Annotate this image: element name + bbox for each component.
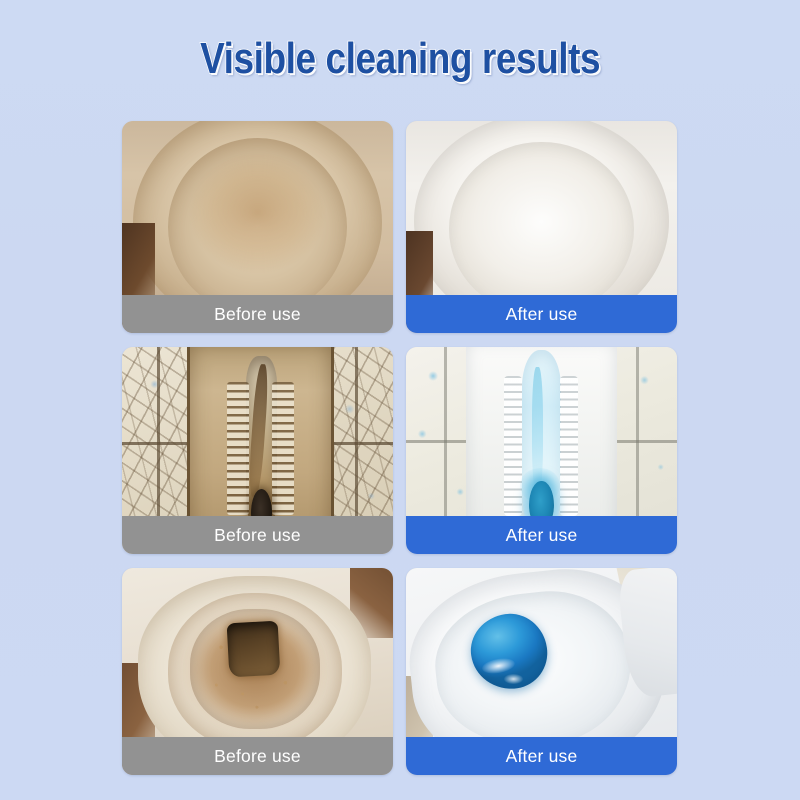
drain-hole bbox=[234, 176, 280, 246]
before-label-1: Before use bbox=[122, 295, 393, 333]
before-card-1[interactable]: Before use bbox=[122, 121, 393, 333]
water-highlight bbox=[504, 674, 523, 684]
page-title: Visible cleaning results bbox=[200, 34, 600, 84]
blue-cleaner-gel bbox=[514, 159, 568, 231]
after-label-1: After use bbox=[406, 295, 677, 333]
before-label-3: Before use bbox=[122, 737, 393, 775]
cleaner-drip bbox=[517, 219, 568, 257]
foot-rest-left bbox=[227, 382, 250, 515]
before-card-2[interactable]: Before use bbox=[122, 347, 393, 554]
promo-image-root: Visible cleaning results Before use bbox=[0, 0, 800, 800]
after-label-2: After use bbox=[406, 516, 677, 554]
comparison-grid: Before use After use bbox=[122, 121, 678, 775]
liquid-sheen bbox=[504, 155, 526, 214]
after-label-3: After use bbox=[406, 737, 677, 775]
drain-hole bbox=[226, 621, 280, 677]
comparison-row-2: Before use Afte bbox=[122, 347, 678, 554]
after-card-1[interactable]: After use bbox=[406, 121, 677, 333]
before-card-3[interactable]: Before use bbox=[122, 568, 393, 775]
stain-spot bbox=[290, 231, 344, 269]
foot-rest-right bbox=[560, 376, 578, 516]
foot-rest-right bbox=[272, 382, 295, 515]
comparison-row-3: Before use After use bbox=[122, 568, 678, 775]
stain-spot bbox=[274, 159, 312, 189]
after-card-2[interactable]: After use bbox=[406, 347, 677, 554]
title-container: Visible cleaning results bbox=[0, 34, 800, 84]
comparison-row-1: Before use After use bbox=[122, 121, 678, 333]
before-label-2: Before use bbox=[122, 516, 393, 554]
foot-rest-left bbox=[504, 376, 522, 516]
after-card-3[interactable]: After use bbox=[406, 568, 677, 775]
